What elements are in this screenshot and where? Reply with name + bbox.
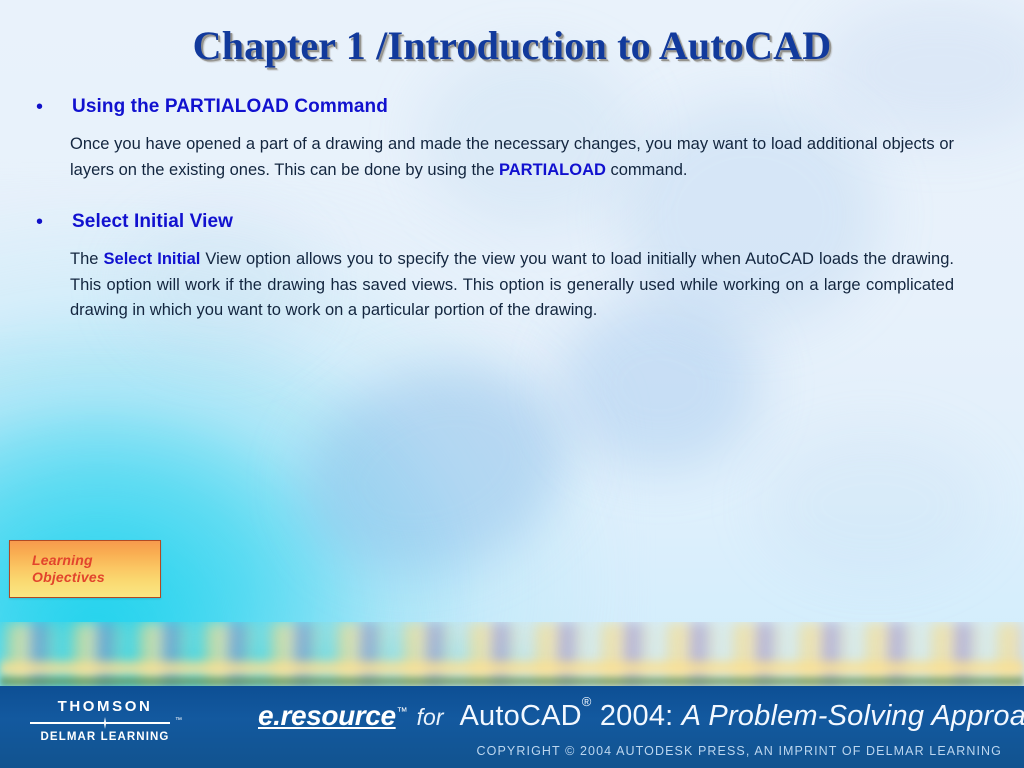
section-spacer (0, 189, 1024, 211)
delmar-learning-wordmark: DELMAR LEARNING (30, 730, 180, 744)
product-subtitle: A Problem-Solving Approach (682, 700, 1024, 732)
section-heading-select-initial-view: Select Initial View (72, 211, 233, 233)
footer-for-word: for (417, 704, 444, 731)
decorative-color-band (0, 622, 1024, 686)
product-autocad: AutoCAD (460, 700, 582, 732)
section-paragraph-select-initial-view: The Select Initial View option allows yo… (70, 247, 954, 324)
footer-product-title: e.resource™ for AutoCAD® 2004: A Problem… (258, 700, 1024, 733)
thomson-delmar-logo: THOMSON ™ DELMAR LEARNING (30, 698, 180, 744)
section-heading-row: • Select Initial View (0, 211, 1024, 233)
background-blob-e (760, 430, 990, 580)
section-select-initial-view: • Select Initial View The Select Initial… (0, 211, 1024, 324)
section-heading-partiaload: Using the PARTIALOAD Command (72, 96, 388, 118)
copyright-notice: COPYRIGHT © 2004 AUTODESK PRESS, AN IMPR… (477, 744, 1002, 758)
product-year: 2004: (592, 700, 682, 732)
presentation-slide: Chapter 1 /Introduction to AutoCAD • Usi… (0, 0, 1024, 768)
thomson-logo-rule: ™ (30, 717, 180, 729)
slide-footer: THOMSON ™ DELMAR LEARNING e.resource™ fo… (0, 686, 1024, 768)
bullet-icon: • (30, 96, 72, 118)
trademark-icon: ™ (175, 717, 182, 725)
thomson-wordmark: THOMSON (30, 698, 180, 715)
slide-content: • Using the PARTIALOAD Command Once you … (0, 96, 1024, 330)
eresource-trademark-icon: ™ (397, 706, 408, 718)
star-icon (99, 717, 111, 729)
footer-product-name: AutoCAD® 2004: A Problem-Solving Approac… (460, 700, 1024, 733)
section-paragraph-partiaload: Once you have opened a part of a drawing… (70, 132, 954, 183)
learning-objectives-line2: Objectives (32, 569, 160, 586)
band-green-line (0, 674, 1024, 686)
learning-objectives-button[interactable]: Learning Objectives (9, 540, 161, 598)
registered-trademark-icon: ® (582, 694, 592, 709)
section-heading-row: • Using the PARTIALOAD Command (0, 96, 1024, 118)
learning-objectives-line1: Learning (32, 552, 160, 569)
eresource-wordmark: e.resource (258, 700, 396, 732)
slide-title: Chapter 1 /Introduction to AutoCAD (0, 22, 1024, 69)
section-partiaload: • Using the PARTIALOAD Command Once you … (0, 96, 1024, 183)
bullet-icon: • (30, 211, 72, 233)
